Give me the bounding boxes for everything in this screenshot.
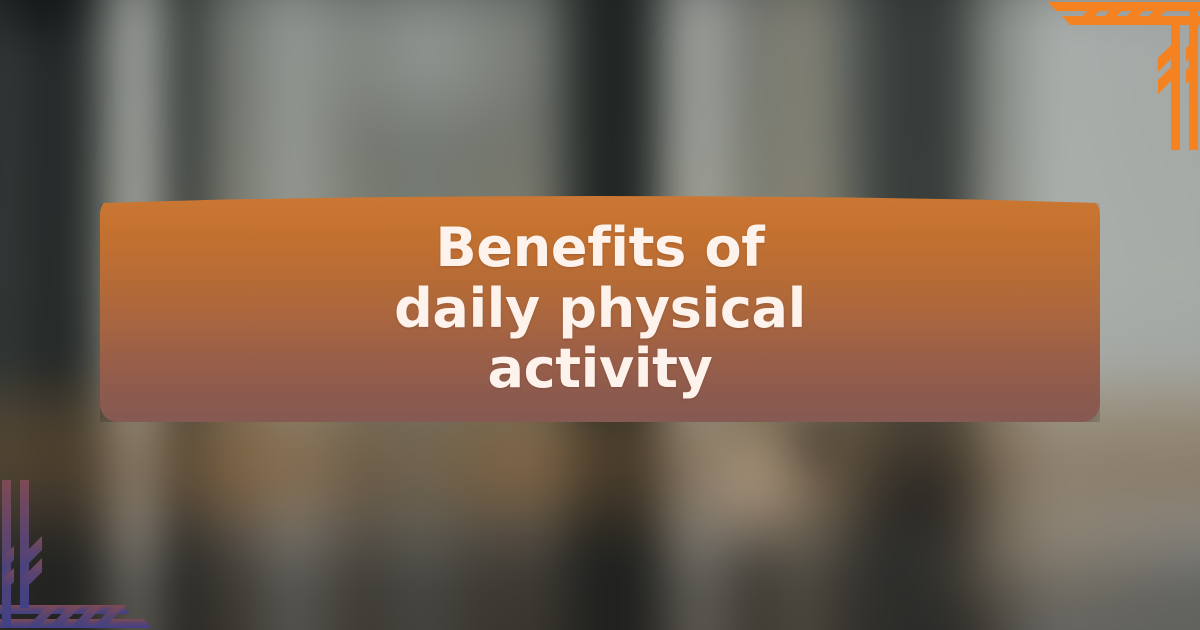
page-title: Benefits of daily physical activity (370, 218, 830, 399)
headline-card: Benefits of daily physical activity (100, 196, 1100, 422)
card-content: Benefits of daily physical activity (100, 196, 1100, 422)
poster-canvas: Benefits of daily physical activity (0, 0, 1200, 630)
